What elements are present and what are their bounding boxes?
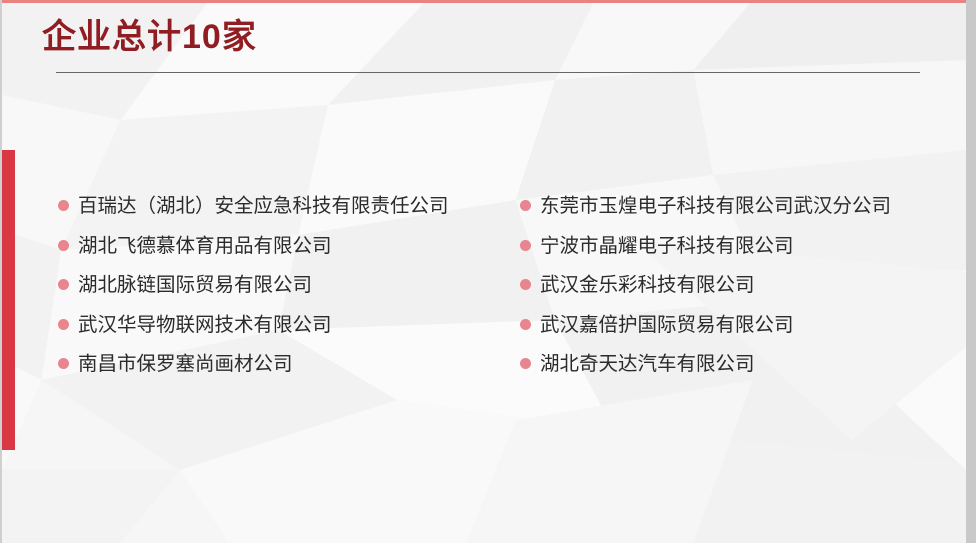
company-list: 百瑞达（湖北）安全应急科技有限责任公司 湖北飞德慕体育用品有限公司 湖北脉链国际… (58, 186, 938, 384)
bullet-dot-icon (520, 319, 531, 330)
title-divider (56, 72, 920, 73)
company-name: 东莞市玉煌电子科技有限公司武汉分公司 (540, 194, 891, 217)
bullet-dot-icon (520, 240, 531, 251)
list-item: 宁波市晶耀电子科技有限公司 (520, 226, 938, 266)
bullet-dot-icon (520, 279, 531, 290)
company-name: 百瑞达（湖北）安全应急科技有限责任公司 (78, 194, 449, 217)
bullet-dot-icon (58, 240, 69, 251)
bullet-dot-icon (520, 200, 531, 211)
list-item: 武汉华导物联网技术有限公司 (58, 305, 520, 345)
slide-canvas: 企业总计10家 百瑞达（湖北）安全应急科技有限责任公司 湖北飞德慕体育用品有限公… (0, 0, 976, 543)
list-item: 湖北脉链国际贸易有限公司 (58, 265, 520, 305)
bullet-dot-icon (58, 200, 69, 211)
company-name: 宁波市晶耀电子科技有限公司 (540, 234, 794, 257)
left-accent-bar (2, 150, 15, 450)
company-name: 武汉嘉倍护国际贸易有限公司 (540, 313, 794, 336)
list-item: 湖北奇天达汽车有限公司 (520, 344, 938, 384)
top-accent-rule (2, 0, 966, 3)
list-item: 东莞市玉煌电子科技有限公司武汉分公司 (520, 186, 938, 226)
company-name: 湖北奇天达汽车有限公司 (540, 352, 755, 375)
company-name: 湖北飞德慕体育用品有限公司 (78, 234, 332, 257)
list-item: 南昌市保罗塞尚画材公司 (58, 344, 520, 384)
company-name: 武汉金乐彩科技有限公司 (540, 273, 755, 296)
list-item: 湖北飞德慕体育用品有限公司 (58, 226, 520, 266)
list-item: 武汉嘉倍护国际贸易有限公司 (520, 305, 938, 345)
company-name: 湖北脉链国际贸易有限公司 (78, 273, 312, 296)
slide-header: 企业总计10家 (42, 16, 257, 59)
list-item: 武汉金乐彩科技有限公司 (520, 265, 938, 305)
company-name: 武汉华导物联网技术有限公司 (78, 313, 332, 336)
company-name: 南昌市保罗塞尚画材公司 (78, 352, 293, 375)
list-item: 百瑞达（湖北）安全应急科技有限责任公司 (58, 186, 520, 226)
bullet-dot-icon (58, 358, 69, 369)
page-title: 企业总计10家 (42, 16, 257, 59)
bullet-dot-icon (520, 358, 531, 369)
bullet-dot-icon (58, 279, 69, 290)
bullet-dot-icon (58, 319, 69, 330)
